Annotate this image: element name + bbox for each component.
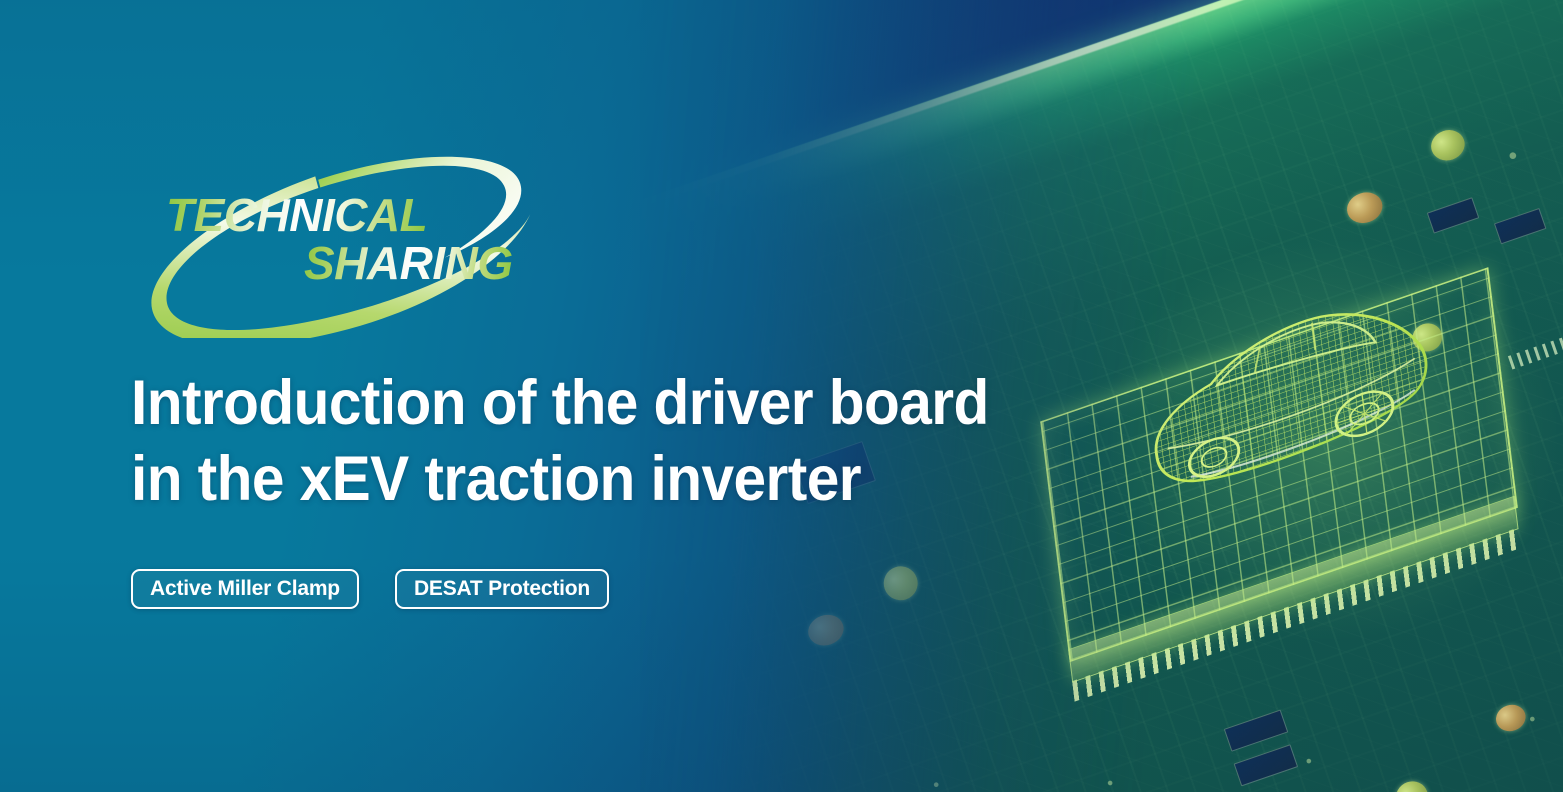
- logo-line-2: SHARING: [304, 240, 513, 286]
- title-line-1: Introduction of the driver board: [131, 365, 1117, 441]
- logo-wordmark: TECHNICAL SHARING: [140, 142, 560, 338]
- tag-desat-protection[interactable]: DESAT Protection: [395, 569, 609, 609]
- banner: TECHNICAL SHARING Introduction of the dr…: [0, 0, 1563, 792]
- tag-list: Active Miller Clamp DESAT Protection: [131, 569, 609, 609]
- tag-active-miller-clamp[interactable]: Active Miller Clamp: [131, 569, 359, 609]
- technical-sharing-logo: TECHNICAL SHARING: [140, 142, 560, 338]
- logo-line-1: TECHNICAL: [166, 192, 427, 238]
- page-title: Introduction of the driver board in the …: [131, 365, 1191, 517]
- title-line-2: in the xEV traction inverter: [131, 441, 1117, 517]
